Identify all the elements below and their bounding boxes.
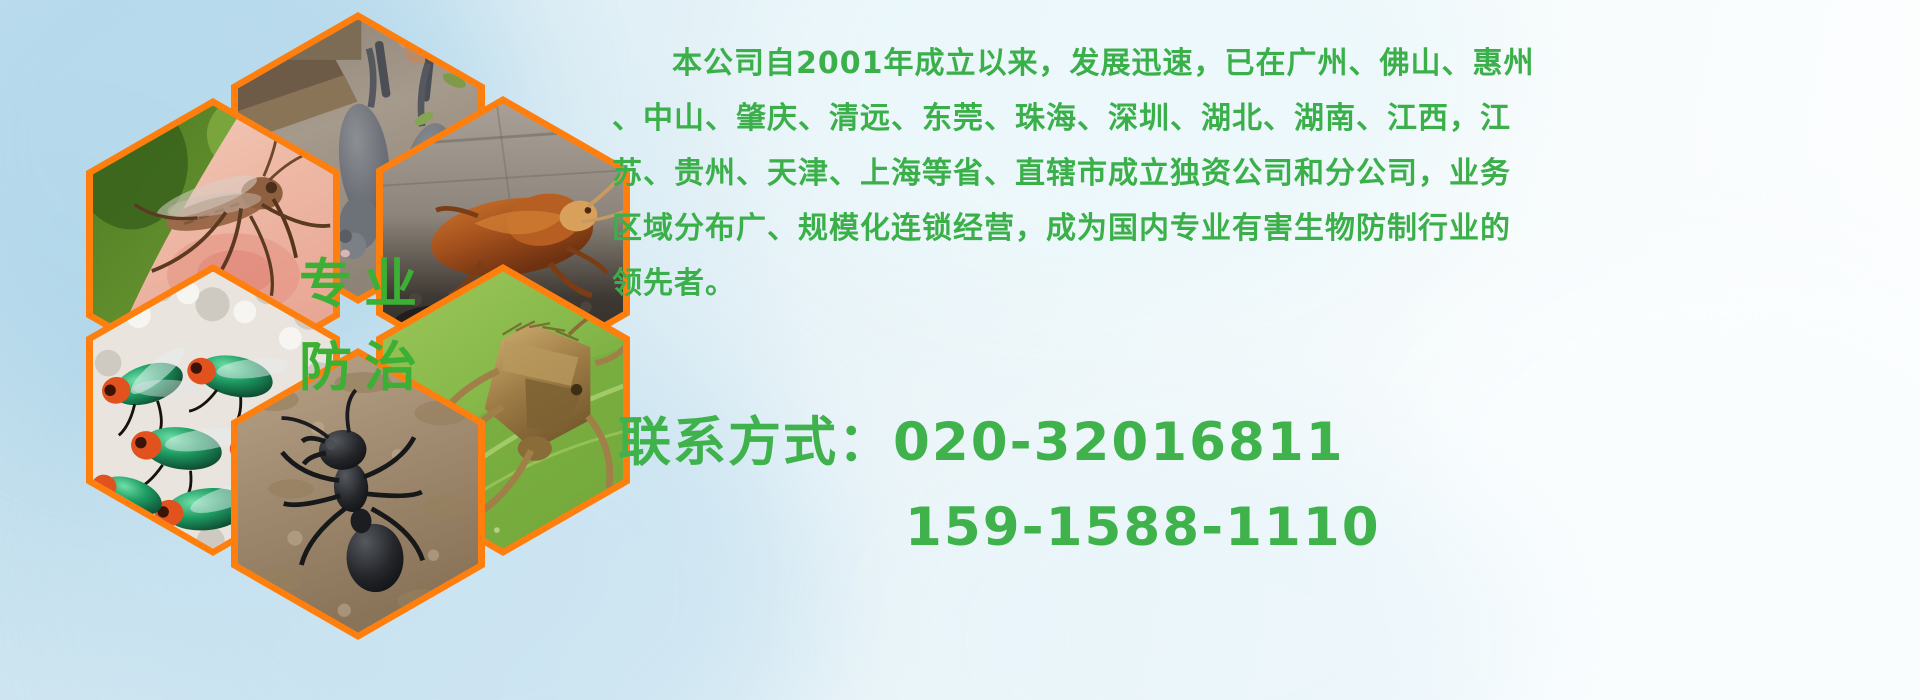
contact-block: 联系方式：020-32016811 159-1588-1110 — [618, 400, 1878, 570]
hexagon-photo-cluster: 专业 防治 — [86, 0, 606, 574]
slogan-line-1: 专业 — [287, 258, 429, 311]
intro-line-2: 、中山、肇庆、清远、东莞、珠海、深圳、湖北、湖南、江西，江 — [612, 91, 1892, 146]
contact-phone-mobile[interactable]: 159-1588-1110 — [618, 485, 1878, 570]
company-intro-paragraph: 本公司自2001年成立以来，发展迅速，已在广州、佛山、惠州 、中山、肇庆、清远、… — [612, 36, 1892, 311]
promo-banner: 专业 防治 本公司自2001年成立以来，发展迅速，已在广州、佛山、惠州 、中山、… — [0, 0, 1920, 700]
intro-line-1: 本公司自2001年成立以来，发展迅速，已在广州、佛山、惠州 — [612, 36, 1892, 91]
slogan-line-2: 防治 — [287, 341, 429, 394]
contact-phone-landline[interactable]: 联系方式：020-32016811 — [618, 400, 1878, 485]
intro-line-3: 苏、贵州、天津、上海等省、直辖市成立独资公司和分公司，业务 — [612, 146, 1892, 201]
intro-line-4: 区域分布广、规模化连锁经营，成为国内专业有害生物防制行业的 — [612, 201, 1892, 256]
intro-line-5: 领先者。 — [612, 256, 1892, 311]
